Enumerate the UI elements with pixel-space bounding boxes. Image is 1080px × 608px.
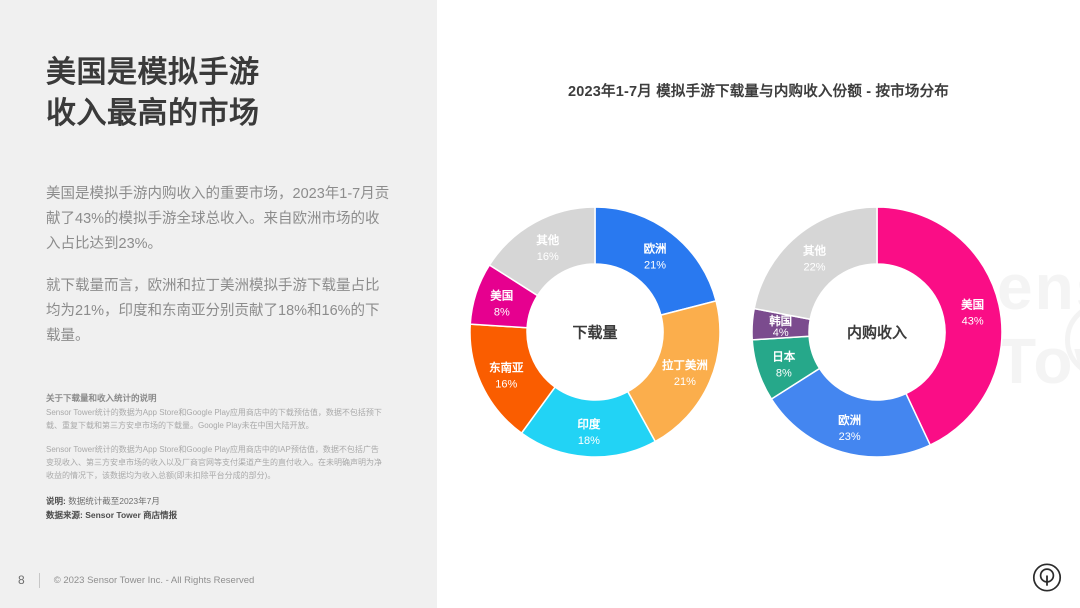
footnote-source-line: 数据来源: Sensor Tower 商店情报	[46, 508, 384, 522]
footnote-source-text: Sensor Tower 商店情报	[85, 510, 177, 520]
pie-slice-label: 其他	[803, 243, 826, 257]
charts-container: 欧洲21%拉丁美洲21%印度18%东南亚16%美国8%其他16% 下载量 美国4…	[437, 192, 1080, 472]
footer-left-group: 8 © 2023 Sensor Tower Inc. - All Rights …	[0, 573, 254, 588]
downloads-donut-svg: 欧洲21%拉丁美洲21%印度18%东南亚16%美国8%其他16%	[455, 192, 735, 472]
pie-slice-label: 欧洲	[838, 413, 861, 427]
footnote-meta: 说明: 数据统计截至2023年7月 数据来源: Sensor Tower 商店情…	[46, 494, 384, 523]
sensor-tower-logo-icon	[1032, 563, 1062, 598]
footnotes-block: 关于下载量和收入统计的说明 Sensor Tower统计的数据为App Stor…	[46, 392, 384, 523]
body-copy: 美国是模拟手游内购收入的重要市场，2023年1-7月贡献了43%的模拟手游全球总…	[46, 182, 391, 349]
revenue-donut-svg: 美国43%欧洲23%日本8%韩国4%其他22%	[737, 192, 1017, 472]
body-paragraph-2: 就下载量而言，欧洲和拉丁美洲模拟手游下载量占比均为21%，印度和东南亚分别贡献了…	[46, 274, 391, 349]
pie-slice-value: 21%	[644, 260, 666, 272]
pie-slice-label: 印度	[577, 417, 600, 431]
body-paragraph-1: 美国是模拟手游内购收入的重要市场，2023年1-7月贡献了43%的模拟手游全球总…	[46, 182, 391, 257]
pie-slice-value: 16%	[537, 251, 559, 263]
pie-slice-label: 美国	[490, 289, 513, 303]
pie-slice-value: 21%	[674, 376, 696, 388]
pie-slice-value: 23%	[839, 431, 861, 443]
pie-slice-label: 拉丁美洲	[662, 358, 708, 372]
footer-divider	[39, 573, 40, 588]
slide-root: 美国是模拟手游 收入最高的市场 美国是模拟手游内购收入的重要市场，2023年1-…	[0, 0, 1080, 608]
page-title-line-2: 收入最高的市场	[46, 93, 406, 134]
pie-slice-label: 欧洲	[644, 242, 667, 256]
pie-slice-value: 8%	[494, 307, 510, 319]
pie-slice-label: 其他	[536, 233, 559, 247]
pie-slice-value: 43%	[962, 316, 984, 328]
pie-slice-label: 韩国	[769, 314, 792, 328]
copyright-text: © 2023 Sensor Tower Inc. - All Rights Re…	[54, 575, 255, 586]
page-title-line-1: 美国是模拟手游	[46, 52, 406, 93]
pie-slice-value: 22%	[804, 261, 826, 273]
footnote-note-line: 说明: 数据统计截至2023年7月	[46, 494, 384, 508]
footnote-source-label: 数据来源:	[46, 510, 83, 520]
footer: 8 © 2023 Sensor Tower Inc. - All Rights …	[0, 552, 1080, 608]
footnotes-heading: 关于下载量和收入统计的说明	[46, 392, 384, 404]
footnote-paragraph-1: Sensor Tower统计的数据为App Store和Google Play应…	[46, 407, 384, 433]
pie-slice-label: 美国	[961, 298, 984, 312]
pie-slice-value: 18%	[578, 435, 600, 447]
pie-slice-value: 16%	[495, 379, 517, 391]
page-number: 8	[18, 573, 25, 587]
revenue-donut-chart: 美国43%欧洲23%日本8%韩国4%其他22% 内购收入	[737, 192, 1017, 472]
footnote-paragraph-2: Sensor Tower统计的数据为App Store和Google Play应…	[46, 444, 384, 483]
footnote-note-label: 说明:	[46, 496, 66, 506]
footnote-note-text: 数据统计截至2023年7月	[68, 496, 160, 506]
downloads-donut-chart: 欧洲21%拉丁美洲21%印度18%东南亚16%美国8%其他16% 下载量	[455, 192, 735, 472]
page-title: 美国是模拟手游 收入最高的市场	[46, 52, 406, 135]
pie-slice-label: 日本	[772, 349, 795, 363]
chart-title: 2023年1-7月 模拟手游下载量与内购收入份额 - 按市场分布	[437, 80, 1080, 101]
left-text-panel: 美国是模拟手游 收入最高的市场 美国是模拟手游内购收入的重要市场，2023年1-…	[0, 0, 437, 608]
pie-slice-label: 东南亚	[489, 361, 524, 375]
pie-slice-value: 8%	[776, 367, 792, 379]
right-chart-panel: 2023年1-7月 模拟手游下载量与内购收入份额 - 按市场分布 ensor T…	[437, 0, 1080, 608]
pie-slice-value: 4%	[773, 327, 789, 339]
